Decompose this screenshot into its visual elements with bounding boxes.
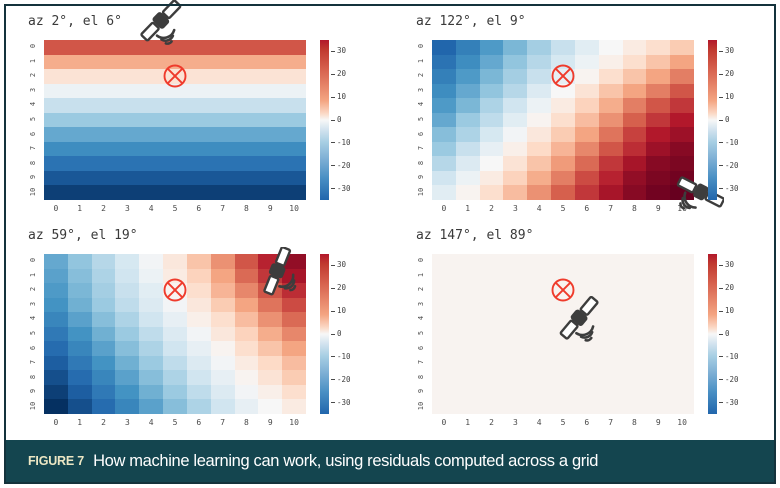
heatmap-cell [139, 327, 163, 342]
y-axis-tick-label: 6 [29, 127, 37, 141]
heatmap-cell [480, 127, 504, 142]
heatmap-cell [235, 98, 259, 113]
heatmap-cell [187, 269, 211, 284]
heatmap-cell [670, 254, 694, 269]
x-axis-tick-label: 5 [556, 418, 570, 427]
colorbar-tick-label: -10 [331, 352, 351, 361]
heatmap-cell [115, 156, 139, 171]
y-axis-tick-label: 1 [417, 54, 425, 68]
colorbar-tick-value: 20 [725, 283, 734, 292]
y-axis-tick-label: 7 [417, 355, 425, 369]
heatmap-cell [68, 399, 92, 414]
y-axis-tick-label: 6 [417, 127, 425, 141]
heatmap-cell [480, 298, 504, 313]
heatmap-cell [139, 312, 163, 327]
panel-az147-el89: az 147°, el 89°0123456789100123456789103… [402, 228, 762, 434]
figure-caption-label: FIGURE 7 [28, 454, 84, 468]
heatmap-cell [503, 171, 527, 186]
heatmap-cell [68, 84, 92, 99]
heatmap-cell [623, 156, 647, 171]
satellite-icon [133, 0, 197, 63]
heatmap-cell [432, 385, 456, 400]
heatmap-cell [456, 254, 480, 269]
heatmap-cell [599, 156, 623, 171]
heatmap-cell [480, 399, 504, 414]
heatmap-cell [211, 185, 235, 200]
heatmap-cell [670, 55, 694, 70]
heatmap-cell [480, 327, 504, 342]
panel-title: az 59°, el 19° [28, 228, 138, 243]
heatmap-cell [670, 69, 694, 84]
y-axis-tick-label: 6 [29, 341, 37, 355]
colorbar-tick-label: -30 [719, 184, 739, 193]
heatmap-cell [646, 341, 670, 356]
x-axis-tick-label: 0 [49, 418, 63, 427]
heatmap-cell [258, 69, 282, 84]
y-axis-tick-label: 6 [417, 341, 425, 355]
x-axis-tick-label: 9 [263, 418, 277, 427]
heatmap-cell [282, 341, 306, 356]
heatmap-cell [211, 55, 235, 70]
heatmap-cell [92, 254, 116, 269]
heatmap-cell [503, 269, 527, 284]
heatmap-cell [282, 113, 306, 128]
colorbar-tick-dash [331, 356, 335, 357]
heatmap-cell [646, 127, 670, 142]
colorbar-tick-dash [719, 334, 723, 335]
heatmap-cell [670, 327, 694, 342]
heatmap-cell [432, 98, 456, 113]
colorbar-tick-label: -20 [719, 375, 739, 384]
colorbar-tick-label: 10 [331, 92, 346, 101]
heatmap-cell [68, 341, 92, 356]
heatmap-cell [68, 385, 92, 400]
colorbar-tick-dash [719, 402, 723, 403]
colorbar-tick-dash [719, 142, 723, 143]
heatmap-cell [575, 254, 599, 269]
heatmap-cell [235, 127, 259, 142]
x-axis-tick-label: 4 [532, 418, 546, 427]
y-axis-tick-label: 3 [417, 297, 425, 311]
heatmap-cell [503, 84, 527, 99]
heatmap-cell [480, 142, 504, 157]
x-axis-tick-label: 1 [461, 204, 475, 213]
x-axis-tick-label: 10 [287, 204, 301, 213]
y-axis-tick-label: 4 [417, 311, 425, 325]
y-axis-tick-label: 9 [29, 384, 37, 398]
heatmap-cell [623, 356, 647, 371]
heatmap-cell [139, 370, 163, 385]
heatmap-cell [44, 269, 68, 284]
heatmap-cell [68, 156, 92, 171]
heatmap-cell [115, 98, 139, 113]
heatmap-cell [44, 127, 68, 142]
x-axis-tick-label: 8 [627, 418, 641, 427]
colorbar-tick-label: 0 [719, 329, 730, 338]
heatmap-cell [623, 55, 647, 70]
colorbar-tick-value: -30 [337, 184, 351, 193]
heatmap-cell [44, 385, 68, 400]
heatmap-cell [599, 185, 623, 200]
heatmap-cell [211, 98, 235, 113]
heatmap-cell [503, 55, 527, 70]
figure-root: az 2°, el 6°0123456789100123456789103020… [0, 0, 780, 488]
heatmap-cell [282, 69, 306, 84]
heatmap-cell [115, 269, 139, 284]
colorbar-tick-value: 10 [725, 306, 734, 315]
heatmap-cell [599, 113, 623, 128]
heatmap-cell [68, 254, 92, 269]
heatmap-cell [432, 142, 456, 157]
heatmap-cell [187, 327, 211, 342]
heatmap-cell [503, 40, 527, 55]
heatmap-cell [92, 84, 116, 99]
x-axis-tick-label: 0 [437, 418, 451, 427]
heatmap-cell [258, 98, 282, 113]
colorbar-tick-label: 20 [719, 69, 734, 78]
heatmap-cell [139, 156, 163, 171]
heatmap-cell [187, 254, 211, 269]
y-axis-tick-label: 8 [29, 370, 37, 384]
y-axis-tick-label: 7 [417, 141, 425, 155]
heatmap-cell [163, 156, 187, 171]
heatmap-cell [432, 171, 456, 186]
heatmap-cell [503, 327, 527, 342]
heatmap-cell [282, 327, 306, 342]
heatmap-cell [163, 185, 187, 200]
colorbar-tick-label: 30 [719, 46, 734, 55]
heatmap-cell [115, 327, 139, 342]
heatmap-cell [163, 312, 187, 327]
y-axis-tick-label: 1 [29, 54, 37, 68]
heatmap-cell [44, 327, 68, 342]
heatmap-cell [646, 370, 670, 385]
colorbar-tick-value: -10 [337, 138, 351, 147]
heatmap-cell [432, 312, 456, 327]
heatmap-cell [646, 142, 670, 157]
heatmap-cell [599, 98, 623, 113]
x-axis-tick-label: 2 [97, 204, 111, 213]
heatmap-cell [503, 254, 527, 269]
heatmap-cell [92, 127, 116, 142]
heatmap-cell [432, 341, 456, 356]
heatmap-cell [456, 370, 480, 385]
colorbar-tick-dash [719, 311, 723, 312]
heatmap-cell [187, 127, 211, 142]
heatmap-cell [623, 69, 647, 84]
heatmap-cell [282, 156, 306, 171]
heatmap-cell [503, 370, 527, 385]
heatmap-cell [258, 40, 282, 55]
heatmap-cell [258, 171, 282, 186]
heatmap-cell [456, 84, 480, 99]
heatmap-cell [456, 269, 480, 284]
colorbar-tick-dash [331, 379, 335, 380]
heatmap-cell [480, 254, 504, 269]
heatmap-cell [670, 298, 694, 313]
heatmap-cell [163, 98, 187, 113]
heatmap-cell [68, 269, 92, 284]
heatmap-cell [456, 341, 480, 356]
figure-caption-text: How machine learning can work, using res… [93, 452, 598, 471]
colorbar-tick-dash [719, 97, 723, 98]
heatmap-cell [92, 399, 116, 414]
x-axis-tick-label: 4 [144, 204, 158, 213]
x-axis-tick-label: 3 [508, 204, 522, 213]
colorbar-tick-label: -10 [331, 138, 351, 147]
y-axis-tick-label: 9 [417, 384, 425, 398]
heatmap-cell [503, 283, 527, 298]
heatmap-cell [44, 370, 68, 385]
heatmap-cell [139, 113, 163, 128]
heatmap-cell [235, 327, 259, 342]
heatmap-cell [670, 84, 694, 99]
y-axis-tick-label: 10 [417, 185, 425, 199]
heatmap-cell [92, 185, 116, 200]
colorbar-tick-label: 20 [331, 283, 346, 292]
heatmap-cell [480, 69, 504, 84]
heatmap-cell [623, 327, 647, 342]
heatmap-cell [456, 171, 480, 186]
colorbar-tick-dash [331, 402, 335, 403]
y-axis-tick-label: 10 [417, 399, 425, 413]
heatmap-cell [670, 385, 694, 400]
colorbar-tick-label: 20 [331, 69, 346, 78]
y-axis-tick-label: 8 [417, 156, 425, 170]
heatmap-cell [163, 142, 187, 157]
heatmap-cell [527, 156, 551, 171]
heatmap-cell [187, 113, 211, 128]
heatmap-cell [211, 312, 235, 327]
heatmap-cell [235, 385, 259, 400]
heatmap-cell [163, 399, 187, 414]
heatmap-cell [527, 40, 551, 55]
heatmap-cell [235, 156, 259, 171]
heatmap-cell [551, 171, 575, 186]
x-axis-tick-label: 6 [192, 418, 206, 427]
figure-plot-area: az 2°, el 6°0123456789100123456789103020… [6, 6, 774, 430]
x-axis-tick-label: 4 [144, 418, 158, 427]
colorbar [320, 40, 329, 200]
heatmap-cell [480, 356, 504, 371]
heatmap-cell [456, 399, 480, 414]
heatmap-cell [432, 254, 456, 269]
colorbar-tick-label: -10 [719, 352, 739, 361]
heatmap-cell [575, 40, 599, 55]
heatmap-cell [646, 269, 670, 284]
heatmap-cell [551, 142, 575, 157]
heatmap-cell [527, 254, 551, 269]
heatmap-cell [646, 69, 670, 84]
heatmap-cell [115, 113, 139, 128]
heatmap-cell [670, 283, 694, 298]
colorbar [708, 40, 717, 200]
heatmap-cell [527, 142, 551, 157]
heatmap-cell [480, 113, 504, 128]
heatmap-cell [623, 399, 647, 414]
heatmap-cell [68, 113, 92, 128]
y-axis-tick-label: 4 [29, 97, 37, 111]
heatmap-cell [599, 127, 623, 142]
heatmap-cell [623, 269, 647, 284]
heatmap-cell [503, 69, 527, 84]
heatmap-cell [599, 69, 623, 84]
y-axis-tick-label: 3 [417, 83, 425, 97]
heatmap-cell [235, 84, 259, 99]
y-axis-tick-label: 5 [29, 326, 37, 340]
colorbar-tick-value: 30 [337, 46, 346, 55]
heatmap-cell [187, 98, 211, 113]
colorbar-tick-dash [719, 356, 723, 357]
heatmap-cell [92, 69, 116, 84]
colorbar-tick-dash [331, 120, 335, 121]
heatmap-cell [115, 254, 139, 269]
heatmap-cell [115, 356, 139, 371]
x-axis-tick-label: 10 [675, 418, 689, 427]
heatmap-cell [599, 254, 623, 269]
heatmap-cell [187, 356, 211, 371]
heatmap-cell [575, 127, 599, 142]
x-axis-tick-label: 2 [97, 418, 111, 427]
heatmap-cell [92, 98, 116, 113]
colorbar-tick-dash [331, 51, 335, 52]
colorbar [320, 254, 329, 414]
heatmap-cell [68, 142, 92, 157]
heatmap-cell [551, 185, 575, 200]
heatmap-cell [456, 127, 480, 142]
heatmap-cell [235, 171, 259, 186]
x-axis-tick-label: 3 [120, 204, 134, 213]
heatmap-cell [44, 254, 68, 269]
heatmap-cell [187, 185, 211, 200]
y-axis-tick-label: 7 [29, 355, 37, 369]
heatmap-cell [503, 399, 527, 414]
colorbar-tick-value: 30 [725, 46, 734, 55]
heatmap-cell [575, 98, 599, 113]
heatmap-cell [211, 341, 235, 356]
heatmap-cell [503, 298, 527, 313]
heatmap-cell [599, 142, 623, 157]
heatmap-cell [527, 399, 551, 414]
heatmap-cell [575, 55, 599, 70]
y-axis-tick-label: 1 [29, 268, 37, 282]
heatmap-cell [92, 327, 116, 342]
heatmap-cell [282, 127, 306, 142]
target-cross-marker-icon [160, 275, 190, 305]
x-axis-tick-label: 3 [120, 418, 134, 427]
heatmap-cell [480, 156, 504, 171]
heatmap-cell [503, 113, 527, 128]
heatmap-cell [575, 269, 599, 284]
heatmap-cell [551, 156, 575, 171]
x-axis-tick-label: 5 [556, 204, 570, 213]
heatmap-cell [92, 55, 116, 70]
heatmap-cell [456, 385, 480, 400]
heatmap-cell [115, 171, 139, 186]
colorbar-tick-label: 20 [719, 283, 734, 292]
heatmap-cell [115, 84, 139, 99]
colorbar-tick-value: 0 [725, 115, 730, 124]
heatmap-cell [115, 142, 139, 157]
heatmap-cell [44, 298, 68, 313]
heatmap-cell [623, 127, 647, 142]
heatmap-cell [211, 283, 235, 298]
heatmap-cell [480, 385, 504, 400]
satellite-icon [552, 296, 616, 360]
colorbar-tick-label: -30 [719, 398, 739, 407]
panel-title: az 2°, el 6° [28, 14, 122, 29]
heatmap-cell [68, 69, 92, 84]
colorbar-tick-value: 0 [725, 329, 730, 338]
heatmap-cell [92, 312, 116, 327]
heatmap-cell [575, 84, 599, 99]
colorbar-tick-value: 30 [337, 260, 346, 269]
x-axis-tick-label: 7 [604, 204, 618, 213]
heatmap-cell [282, 356, 306, 371]
colorbar-tick-label: 30 [331, 46, 346, 55]
heatmap-cell [282, 185, 306, 200]
heatmap-cell [92, 370, 116, 385]
heatmap-cell [68, 55, 92, 70]
heatmap-cell [599, 370, 623, 385]
heatmap-cell [258, 312, 282, 327]
heatmap-cell [187, 399, 211, 414]
heatmap-cell [258, 55, 282, 70]
heatmap-cell [456, 298, 480, 313]
colorbar-tick-value: -30 [725, 184, 739, 193]
heatmap-cell [503, 127, 527, 142]
heatmap-cell [258, 84, 282, 99]
heatmap-cell [92, 298, 116, 313]
heatmap-cell [670, 399, 694, 414]
y-axis-tick-label: 8 [29, 156, 37, 170]
heatmap-cell [503, 156, 527, 171]
x-axis-tick-label: 0 [437, 204, 451, 213]
colorbar-tick-value: -20 [725, 375, 739, 384]
heatmap-cell [575, 156, 599, 171]
colorbar-tick-value: 10 [725, 92, 734, 101]
y-axis-tick-label: 9 [417, 170, 425, 184]
colorbar-tick-dash [331, 311, 335, 312]
heatmap-cell [599, 399, 623, 414]
heatmap-cell [456, 327, 480, 342]
y-axis-tick-label: 3 [29, 297, 37, 311]
heatmap-cell [646, 356, 670, 371]
heatmap-cell [527, 98, 551, 113]
heatmap-cell [282, 55, 306, 70]
y-axis-tick-label: 10 [29, 399, 37, 413]
heatmap-cell [480, 312, 504, 327]
heatmap-cell [115, 185, 139, 200]
heatmap-cell [599, 40, 623, 55]
heatmap-cell [527, 370, 551, 385]
heatmap-cell [432, 127, 456, 142]
target-cross-marker-icon [160, 61, 190, 91]
heatmap-cell [163, 385, 187, 400]
heatmap-cell [670, 98, 694, 113]
x-axis-tick-label: 5 [168, 418, 182, 427]
figure-caption-bar: FIGURE 7 How machine learning can work, … [6, 440, 774, 482]
x-axis-tick-label: 4 [532, 204, 546, 213]
heatmap-cell [646, 298, 670, 313]
y-axis-tick-label: 0 [417, 39, 425, 53]
x-axis-tick-label: 1 [461, 418, 475, 427]
heatmap-cell [527, 113, 551, 128]
heatmap-cell [670, 113, 694, 128]
heatmap-cell [211, 40, 235, 55]
colorbar-tick-value: -10 [337, 352, 351, 361]
heatmap-cell [92, 341, 116, 356]
